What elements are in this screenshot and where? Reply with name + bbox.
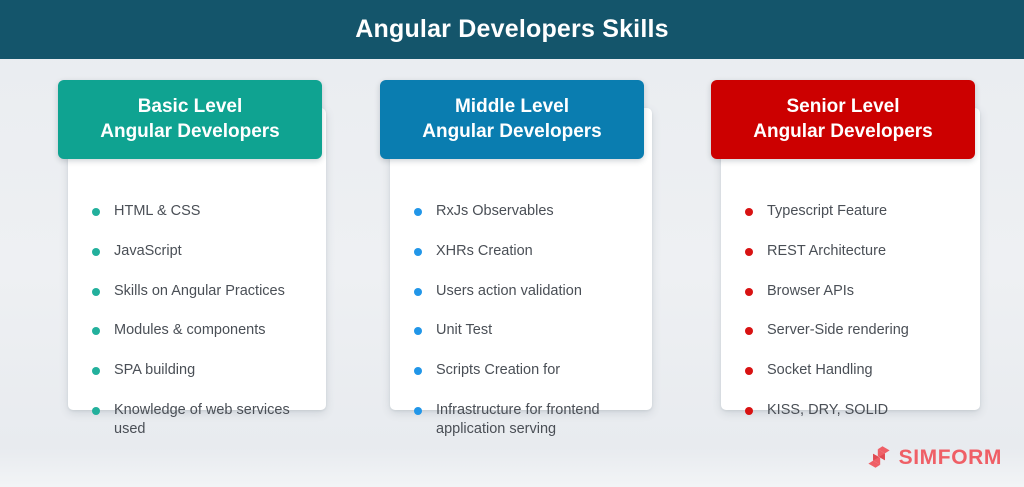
skill-list: Typescript Feature REST Architecture Bro…	[721, 108, 979, 441]
bullet-dot-icon	[745, 327, 753, 335]
skill-label: XHRs Creation	[436, 242, 533, 261]
skill-label: Users action validation	[436, 282, 582, 301]
infographic-page: Angular Developers Skills Basic Level An…	[0, 0, 1024, 487]
list-item: Modules & components	[68, 321, 326, 340]
bullet-dot-icon	[414, 248, 422, 256]
bullet-dot-icon	[414, 288, 422, 296]
skill-label: Modules & components	[114, 321, 266, 340]
skill-label: REST Architecture	[767, 242, 886, 261]
page-title: Angular Developers Skills	[355, 17, 668, 42]
skill-list: RxJs Observables XHRs Creation Users act…	[390, 108, 648, 460]
list-item: Knowledge of web services used	[68, 401, 326, 440]
brand-logo: SIMFORM	[866, 444, 1002, 470]
bullet-dot-icon	[92, 288, 100, 296]
list-item: Socket Handling	[721, 361, 979, 380]
brand-name: SIMFORM	[899, 447, 1002, 468]
bullet-dot-icon	[745, 288, 753, 296]
skill-label: Infrastructure for frontend application …	[436, 401, 636, 440]
bullet-dot-icon	[414, 208, 422, 216]
bullet-dot-icon	[92, 327, 100, 335]
list-item: HTML & CSS	[68, 202, 326, 221]
list-item: Skills on Angular Practices	[68, 282, 326, 301]
list-item: KISS, DRY, SOLID	[721, 401, 979, 420]
skill-label: SPA building	[114, 361, 195, 380]
bullet-dot-icon	[745, 248, 753, 256]
list-item: JavaScript	[68, 242, 326, 261]
skill-label: RxJs Observables	[436, 202, 554, 221]
skill-label: Knowledge of web services used	[114, 401, 314, 440]
cards-container: Basic Level Angular Developers HTML & CS…	[0, 59, 1024, 487]
skill-label: HTML & CSS	[114, 202, 200, 221]
bullet-dot-icon	[745, 367, 753, 375]
list-item: Server-Side rendering	[721, 321, 979, 340]
bullet-dot-icon	[745, 208, 753, 216]
list-item: Infrastructure for frontend application …	[390, 401, 648, 440]
skill-label: Unit Test	[436, 321, 492, 340]
bullet-dot-icon	[745, 407, 753, 415]
bullet-dot-icon	[414, 367, 422, 375]
skill-label: JavaScript	[114, 242, 182, 261]
bullet-dot-icon	[92, 407, 100, 415]
bullet-dot-icon	[414, 407, 422, 415]
skill-label: Socket Handling	[767, 361, 873, 380]
simform-s-mark-icon	[866, 444, 892, 470]
skill-label: Server-Side rendering	[767, 321, 909, 340]
list-item: RxJs Observables	[390, 202, 648, 221]
skill-label: Browser APIs	[767, 282, 854, 301]
bullet-dot-icon	[92, 248, 100, 256]
skill-label: KISS, DRY, SOLID	[767, 401, 888, 420]
list-item: REST Architecture	[721, 242, 979, 261]
page-header: Angular Developers Skills	[0, 0, 1024, 59]
list-item: Unit Test	[390, 321, 648, 340]
skill-label: Typescript Feature	[767, 202, 887, 221]
skill-label: Skills on Angular Practices	[114, 282, 285, 301]
skill-list: HTML & CSS JavaScript Skills on Angular …	[68, 108, 326, 460]
list-item: XHRs Creation	[390, 242, 648, 261]
list-item: Scripts Creation for	[390, 361, 648, 380]
list-item: SPA building	[68, 361, 326, 380]
skill-label: Scripts Creation for	[436, 361, 560, 380]
bullet-dot-icon	[414, 327, 422, 335]
bullet-dot-icon	[92, 367, 100, 375]
list-item: Browser APIs	[721, 282, 979, 301]
list-item: Users action validation	[390, 282, 648, 301]
bullet-dot-icon	[92, 208, 100, 216]
list-item: Typescript Feature	[721, 202, 979, 221]
